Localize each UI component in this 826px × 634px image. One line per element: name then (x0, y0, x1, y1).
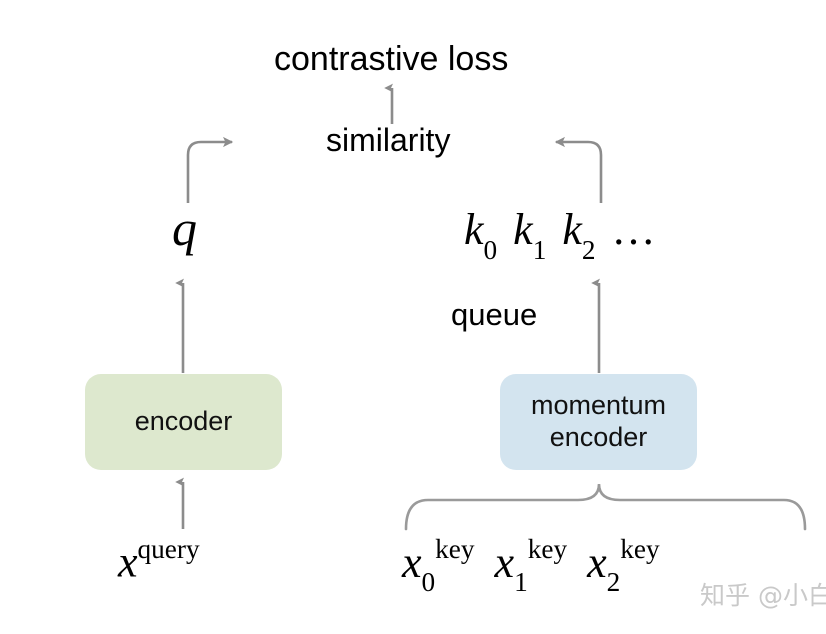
diagram-canvas: contrastive loss similarity q k0k1k2… qu… (0, 0, 826, 634)
key-vector-1: k1 (513, 205, 546, 254)
key-input-0: x0key (402, 538, 475, 587)
similarity-label: similarity (326, 124, 450, 156)
key-vectors-ellipsis: … (612, 205, 656, 254)
key-input-2: x2key (587, 538, 660, 587)
arrow-k-to-similarity (556, 142, 601, 203)
key-vectors-group: k0k1k2… (464, 208, 656, 259)
momentum-encoder-box-label-line2: encoder (550, 422, 648, 454)
query-vector-label: q (172, 203, 197, 253)
contrastive-loss-label: contrastive loss (274, 42, 508, 76)
key-vector-0: k0 (464, 205, 497, 254)
query-input-label: xquery (118, 539, 200, 585)
key-inputs-group: x0keyx1keyx2key (402, 539, 660, 592)
zhihu-watermark: 知乎 @小白 (700, 583, 826, 608)
arrow-q-to-similarity (188, 142, 232, 203)
momentum-encoder-box-label-line1: momentum (531, 390, 666, 422)
encoder-box[interactable]: encoder (85, 374, 282, 470)
queue-label: queue (451, 299, 537, 330)
encoder-box-label: encoder (135, 406, 233, 438)
query-input-superscript: query (138, 534, 200, 564)
key-inputs-brace (406, 484, 805, 529)
key-vector-2: k2 (562, 205, 595, 254)
key-input-1: x1key (495, 538, 568, 587)
momentum-encoder-box[interactable]: momentum encoder (500, 374, 697, 470)
